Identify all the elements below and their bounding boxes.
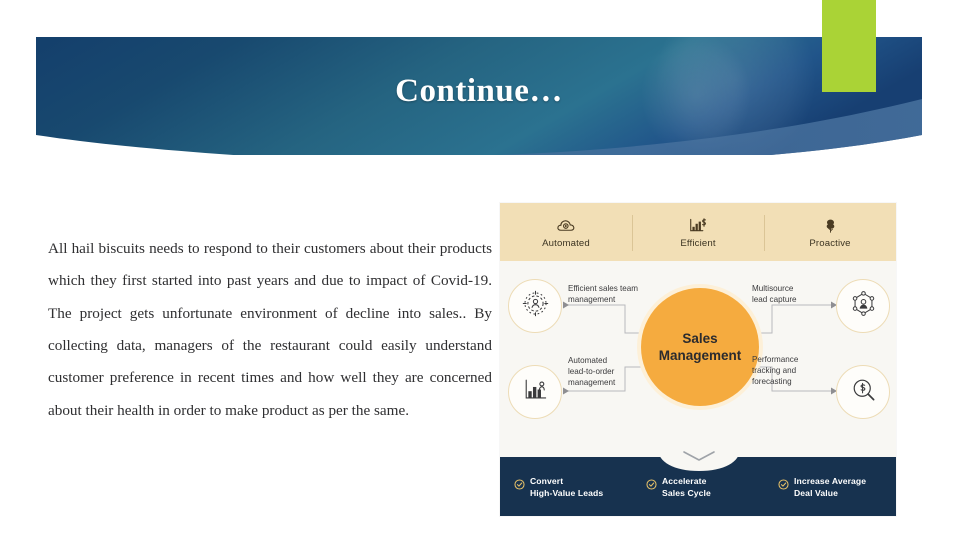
node-automated-lead-to-order-management — [508, 365, 562, 419]
check-circle-icon — [646, 477, 657, 488]
cloud-gear-icon — [555, 216, 577, 236]
footer-line-2: Deal Value — [794, 488, 838, 498]
center-label-line2: Management — [659, 347, 742, 364]
infographic-diagram: Sales Management — [500, 261, 896, 457]
sales-management-infographic: Automated Efficient Proac — [500, 203, 896, 516]
footer-item-text: Convert High-Value Leads — [530, 476, 603, 499]
label-line: Automated — [568, 355, 646, 366]
footer-line-2: High-Value Leads — [530, 488, 603, 498]
node-label-automated-lead-to-order: Automated lead-to-order management — [568, 355, 646, 388]
node-multisource-lead-capture — [836, 279, 890, 333]
check-circle-icon — [778, 477, 789, 488]
label-line: lead-to-order — [568, 366, 646, 377]
check-circle-icon — [514, 477, 525, 488]
top-strip-label: Efficient — [680, 238, 715, 249]
footer-item-text: Increase Average Deal Value — [794, 476, 866, 499]
label-line: Performance — [752, 354, 830, 365]
node-performance-tracking-forecasting — [836, 365, 890, 419]
network-person-icon — [850, 290, 877, 322]
label-line: tracking and — [752, 365, 830, 376]
label-line: Multisource — [752, 283, 830, 294]
label-line: lead capture — [752, 294, 830, 305]
label-line: Efficient sales team — [568, 283, 646, 294]
top-strip-item-automated: Automated — [500, 203, 632, 261]
green-accent-bar — [822, 0, 876, 92]
label-line: management — [568, 377, 646, 388]
tree-icon — [819, 216, 841, 236]
center-label-line1: Sales — [682, 330, 717, 347]
footer-line-1: Increase Average — [794, 476, 866, 486]
body-paragraph: All hail biscuits needs to respond to th… — [48, 233, 492, 427]
footer-line-1: Accelerate — [662, 476, 706, 486]
label-line: management — [568, 294, 646, 305]
chevron-dip-decoration — [658, 443, 740, 473]
footer-line-1: Convert — [530, 476, 563, 486]
slide-header-banner: Continue… — [36, 37, 922, 155]
target-person-icon — [522, 290, 549, 322]
node-label-efficient-sales-team: Efficient sales team management — [568, 283, 646, 305]
infographic-top-strip: Automated Efficient Proac — [500, 203, 896, 261]
banner-shape — [36, 37, 922, 155]
node-label-multisource-lead-capture: Multisource lead capture — [752, 283, 830, 305]
footer-item-convert-high-value-leads: Convert High-Value Leads — [500, 476, 632, 499]
top-strip-item-efficient: Efficient — [632, 203, 764, 261]
top-strip-label: Automated — [542, 238, 590, 249]
top-strip-item-proactive: Proactive — [764, 203, 896, 261]
bar-chart-person-icon — [522, 376, 549, 408]
footer-item-increase-average-deal-value: Increase Average Deal Value — [764, 476, 896, 499]
bar-chart-dollar-icon — [687, 216, 709, 236]
node-efficient-sales-team-management — [508, 279, 562, 333]
footer-line-2: Sales Cycle — [662, 488, 711, 498]
node-label-performance-tracking: Performance tracking and forecasting — [752, 354, 830, 387]
center-circle-sales-management: Sales Management — [641, 288, 759, 406]
label-line: forecasting — [752, 376, 830, 387]
magnifier-dollar-icon — [850, 376, 877, 408]
top-strip-label: Proactive — [809, 238, 850, 249]
footer-item-text: Accelerate Sales Cycle — [662, 476, 711, 499]
footer-item-accelerate-sales-cycle: Accelerate Sales Cycle — [632, 476, 764, 499]
